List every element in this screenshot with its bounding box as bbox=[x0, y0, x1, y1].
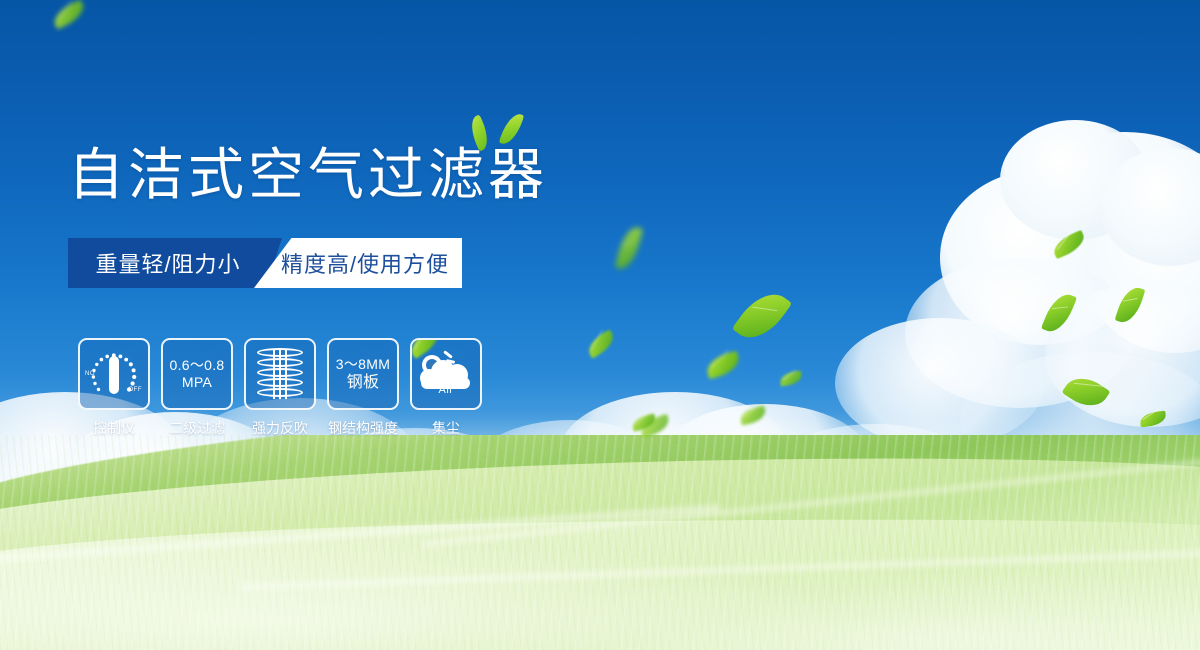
gauge-label-no: NO bbox=[85, 371, 95, 377]
coil-bar bbox=[273, 349, 275, 399]
feature-label: 控制仪 bbox=[93, 418, 135, 438]
feature-item-steel[interactable]: 3～8MM 钢板 钢结构强度 bbox=[327, 338, 399, 438]
sprout-leaf-right bbox=[499, 110, 525, 147]
air-label: Air bbox=[418, 384, 474, 396]
steel-material: 钢板 bbox=[347, 373, 380, 392]
gauge-needle bbox=[109, 356, 119, 394]
pressure-value: 0.6～0.8 bbox=[169, 357, 224, 374]
feature-item-dust[interactable]: Air 集尘 bbox=[410, 338, 482, 438]
feature-label: 钢结构强度 bbox=[328, 418, 398, 438]
gauge-icon: NO OFF bbox=[78, 338, 150, 410]
feature-item-pressure[interactable]: 0.6～0.8 MPA 二级过滤 bbox=[161, 338, 233, 438]
pressure-unit: MPA bbox=[182, 374, 212, 391]
feature-label: 二级过滤 bbox=[169, 418, 225, 438]
feature-list: NO OFF 控制仪 0.6～0.8 MPA 二级过滤 bbox=[78, 338, 482, 438]
pressure-icon: 0.6～0.8 MPA bbox=[161, 338, 233, 410]
page-title: 自洁式空气过滤器 bbox=[68, 143, 548, 207]
steel-thickness: 3～8MM bbox=[336, 356, 390, 373]
feature-label: 强力反吹 bbox=[252, 418, 308, 438]
feature-item-blowback[interactable]: 强力反吹 bbox=[244, 338, 316, 438]
gauge-label-off: OFF bbox=[129, 387, 143, 393]
coil-bar bbox=[279, 349, 281, 399]
cloud-air-graphic: Air bbox=[418, 351, 474, 397]
steel-plate-icon: 3～8MM 钢板 bbox=[327, 338, 399, 410]
feature-label: 集尘 bbox=[432, 418, 460, 438]
coil-icon bbox=[244, 338, 316, 410]
gauge-graphic: NO OFF bbox=[85, 347, 143, 401]
coil-bar bbox=[285, 349, 287, 399]
sun-ray bbox=[443, 350, 453, 359]
cloud-air-icon: Air bbox=[410, 338, 482, 410]
feature-item-control[interactable]: NO OFF 控制仪 bbox=[78, 338, 150, 438]
coil-graphic bbox=[257, 346, 303, 402]
subtitle-left: 重量轻/阻力小 bbox=[68, 238, 268, 288]
banner-stage: 自洁式空气过滤器 重量轻/阻力小 精度高/使用方便 bbox=[0, 0, 1200, 650]
ground bbox=[0, 435, 1200, 650]
